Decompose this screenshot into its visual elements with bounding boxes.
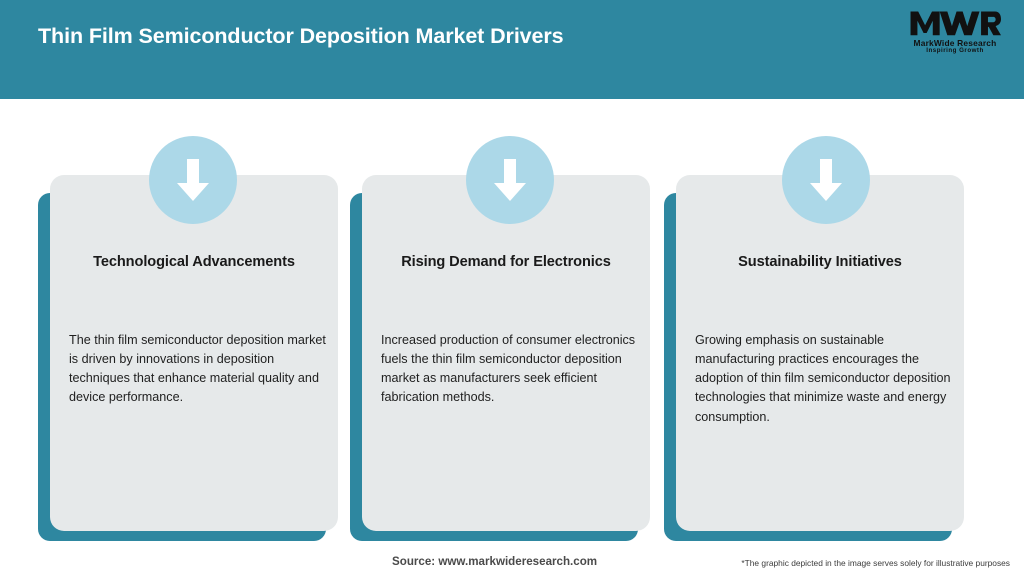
driver-card[interactable]: Sustainability Initiatives Growing empha… [676, 175, 964, 540]
source-label: Source: www.markwideresearch.com [392, 555, 597, 568]
card-title: Sustainability Initiatives [686, 253, 954, 271]
logo-tagline: Inspiring Growth [926, 48, 984, 55]
brand-logo: MarkWide Research Inspiring Growth [902, 8, 1008, 62]
disclaimer-note: *The graphic depicted in the image serve… [741, 558, 1010, 568]
card-body-text: Growing emphasis on sustainable manufact… [695, 331, 952, 427]
card-title: Rising Demand for Electronics [372, 253, 640, 271]
down-arrow-icon [492, 155, 528, 205]
down-arrow-icon [808, 155, 844, 205]
mwr-logo-icon [909, 8, 1001, 38]
page-title: Thin Film Semiconductor Deposition Marke… [38, 24, 564, 49]
card-body-text: Increased production of consumer electro… [381, 331, 638, 408]
down-arrow-badge [466, 136, 554, 224]
down-arrow-icon [175, 155, 211, 205]
driver-card[interactable]: Technological Advancements The thin film… [50, 175, 338, 540]
footer: Source: www.markwideresearch.com *The gr… [0, 542, 1024, 576]
card-panel: Rising Demand for Electronics Increased … [362, 175, 650, 531]
driver-card[interactable]: Rising Demand for Electronics Increased … [362, 175, 650, 540]
card-body-text: The thin film semiconductor deposition m… [69, 331, 326, 408]
header-band: Thin Film Semiconductor Deposition Marke… [0, 0, 1024, 99]
cards-container: Technological Advancements The thin film… [0, 99, 1024, 542]
card-panel: Technological Advancements The thin film… [50, 175, 338, 531]
down-arrow-badge [782, 136, 870, 224]
down-arrow-badge [149, 136, 237, 224]
card-title: Technological Advancements [60, 253, 328, 271]
card-panel: Sustainability Initiatives Growing empha… [676, 175, 964, 531]
